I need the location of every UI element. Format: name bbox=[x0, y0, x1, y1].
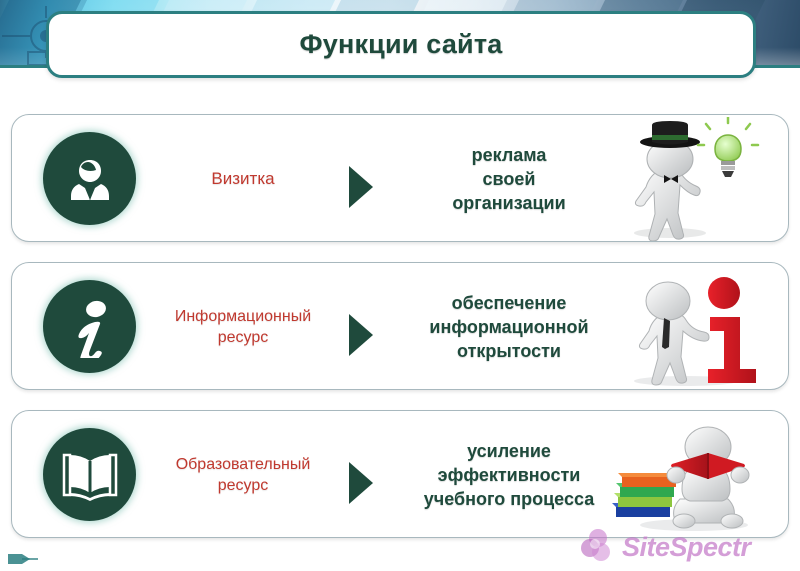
function-label-line: ресурс bbox=[218, 475, 269, 496]
function-outcome: реклама своей организации bbox=[384, 115, 634, 243]
title-plate: Функции сайта bbox=[46, 11, 756, 78]
function-row[interactable]: Информационный ресурс обеспечение информ… bbox=[11, 262, 789, 390]
function-outcome: обеспечение информационной открытости bbox=[384, 263, 634, 391]
outcome-line: реклама bbox=[472, 143, 547, 167]
function-row[interactable]: Образовательный ресурс усиление эффектив… bbox=[11, 410, 789, 538]
function-row[interactable]: Визитка реклама своей организации bbox=[11, 114, 789, 242]
figure-reading-book-with-book-stack bbox=[606, 413, 774, 537]
function-label-line: Информационный bbox=[175, 306, 311, 327]
slide-canvas: Функции сайта Визитка реклама своей орга… bbox=[0, 0, 800, 571]
outcome-line: своей bbox=[483, 167, 536, 191]
function-label: Образовательный ресурс bbox=[143, 411, 343, 539]
information-italic-i-icon bbox=[43, 280, 136, 373]
function-label: Информационный ресурс bbox=[143, 263, 343, 391]
outcome-line: учебного процесса bbox=[424, 487, 594, 511]
outcome-line: обеспечение bbox=[452, 291, 567, 315]
watermark: SiteSpectr bbox=[580, 527, 790, 567]
arrow-right-triangle bbox=[346, 313, 376, 357]
function-outcome: усиление эффективности учебного процесса bbox=[384, 411, 634, 539]
page-title: Функции сайта bbox=[300, 29, 503, 60]
arrow-right-triangle bbox=[346, 165, 376, 209]
function-label: Визитка bbox=[143, 115, 343, 243]
corner-decor-icon bbox=[6, 550, 40, 568]
watermark-text: SiteSpectr bbox=[622, 532, 751, 563]
business-card-person-icon bbox=[43, 132, 136, 225]
function-label-line: Визитка bbox=[211, 168, 274, 190]
outcome-line: эффективности bbox=[438, 463, 581, 487]
arrow-right-triangle bbox=[346, 461, 376, 505]
outcome-line: открытости bbox=[457, 339, 561, 363]
function-label-line: ресурс bbox=[218, 327, 269, 348]
outcome-line: информационной bbox=[429, 315, 588, 339]
open-book-icon bbox=[43, 428, 136, 521]
outcome-line: организации bbox=[452, 191, 565, 215]
figure-with-tophat-and-lightbulb bbox=[606, 117, 774, 241]
figure-leaning-on-red-i bbox=[606, 265, 774, 389]
watermark-logo-icon bbox=[580, 528, 622, 566]
outcome-line: усиление bbox=[467, 439, 551, 463]
function-label-line: Образовательный bbox=[176, 454, 311, 475]
